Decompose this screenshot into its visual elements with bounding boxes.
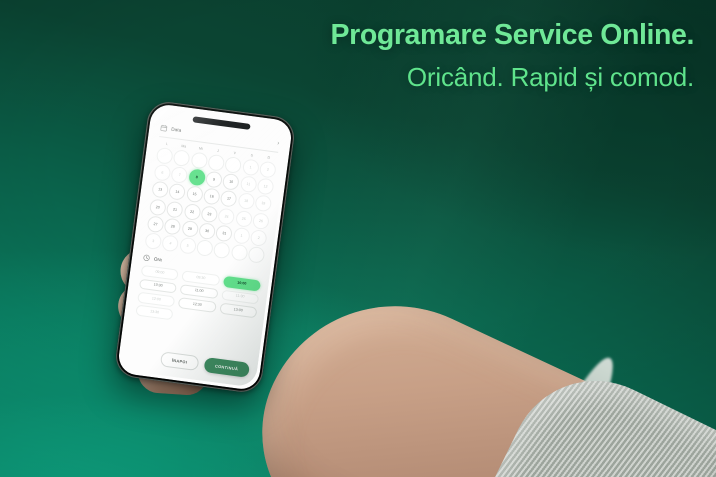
calendar-day[interactable]: 16: [203, 188, 221, 206]
weekday-label: D: [260, 154, 278, 160]
calendar-day[interactable]: 12: [257, 177, 275, 195]
calendar-day[interactable]: 4: [161, 235, 179, 253]
time-slot[interactable]: 09:30: [182, 271, 220, 287]
calendar-day[interactable]: 30: [198, 222, 216, 240]
calendar-day: [213, 242, 231, 260]
calendar-day[interactable]: 9: [205, 171, 223, 189]
hero-banner: Data › LMaMiJVSD 12678910111213141516171…: [0, 0, 716, 477]
calendar-day: [230, 244, 248, 262]
weekday-label: Ma: [175, 143, 193, 149]
time-slot-grid: 09:0009:3010:0010:3011:0011:3012:0012:30…: [135, 265, 261, 331]
calendar-day[interactable]: 10: [222, 173, 240, 191]
calendar-day[interactable]: 22: [183, 203, 201, 221]
calendar-day[interactable]: 19: [254, 195, 272, 213]
time-section-label: Ora: [154, 257, 163, 263]
chevron-right-icon[interactable]: ›: [277, 140, 280, 146]
weekday-label: Mi: [192, 145, 210, 151]
page-title: Programare Service Online.: [234, 20, 694, 52]
hero-copy: Programare Service Online. Oricând. Rapi…: [234, 20, 694, 93]
time-slot[interactable]: 13:00: [219, 303, 257, 319]
time-slot[interactable]: 12:30: [178, 297, 216, 313]
time-slot[interactable]: 09:00: [141, 265, 179, 281]
calendar-day[interactable]: 1: [233, 227, 251, 245]
calendar-day[interactable]: 28: [164, 218, 182, 236]
calendar-day[interactable]: 14: [168, 183, 186, 201]
calendar-day[interactable]: 5: [179, 237, 197, 255]
calendar-day[interactable]: 1: [242, 158, 260, 176]
time-slot-selected[interactable]: 10:00: [223, 276, 261, 292]
calendar-day[interactable]: 13: [151, 181, 169, 199]
calendar-day[interactable]: 21: [166, 200, 184, 218]
calendar-day: [247, 246, 265, 264]
weekday-label: L: [158, 141, 176, 147]
calendar-day: [190, 151, 208, 169]
calendar-day[interactable]: 17: [220, 190, 238, 208]
calendar-day[interactable]: 29: [181, 220, 199, 238]
calendar-day[interactable]: 2: [250, 229, 268, 247]
calendar-day[interactable]: 26: [252, 212, 270, 230]
calendar-day[interactable]: 25: [235, 210, 253, 228]
calendar-day[interactable]: 6: [153, 164, 171, 182]
calendar-day-selected[interactable]: 8: [188, 168, 206, 186]
date-section-label: Data: [171, 127, 182, 133]
clock-icon: [143, 254, 151, 262]
calendar-grid: 1267891011121314151617181920212223242526…: [144, 146, 277, 264]
calendar-day[interactable]: 31: [215, 224, 233, 242]
time-slot[interactable]: 13:30: [135, 305, 173, 321]
calendar-day[interactable]: 15: [186, 185, 204, 203]
calendar-day[interactable]: 23: [200, 205, 218, 223]
calendar-day: [156, 146, 174, 164]
calendar-day[interactable]: 3: [144, 232, 162, 250]
calendar-day[interactable]: 18: [237, 192, 255, 210]
calendar-day: [196, 239, 214, 257]
calendar-day[interactable]: 11: [239, 175, 257, 193]
page-subtitle: Oricând. Rapid și comod.: [234, 63, 694, 93]
calendar-day: [173, 149, 191, 167]
calendar-icon: [160, 124, 168, 132]
weekday-label: V: [226, 150, 244, 156]
calendar-day[interactable]: 24: [218, 207, 236, 225]
weekday-label: J: [209, 147, 227, 153]
calendar-day: [207, 153, 225, 171]
calendar-day[interactable]: 27: [147, 215, 165, 233]
weekday-label: S: [243, 152, 261, 158]
calendar-day[interactable]: 20: [149, 198, 167, 216]
calendar-day[interactable]: 7: [171, 166, 189, 184]
calendar-day: [225, 156, 243, 174]
calendar-day[interactable]: 2: [259, 160, 277, 178]
